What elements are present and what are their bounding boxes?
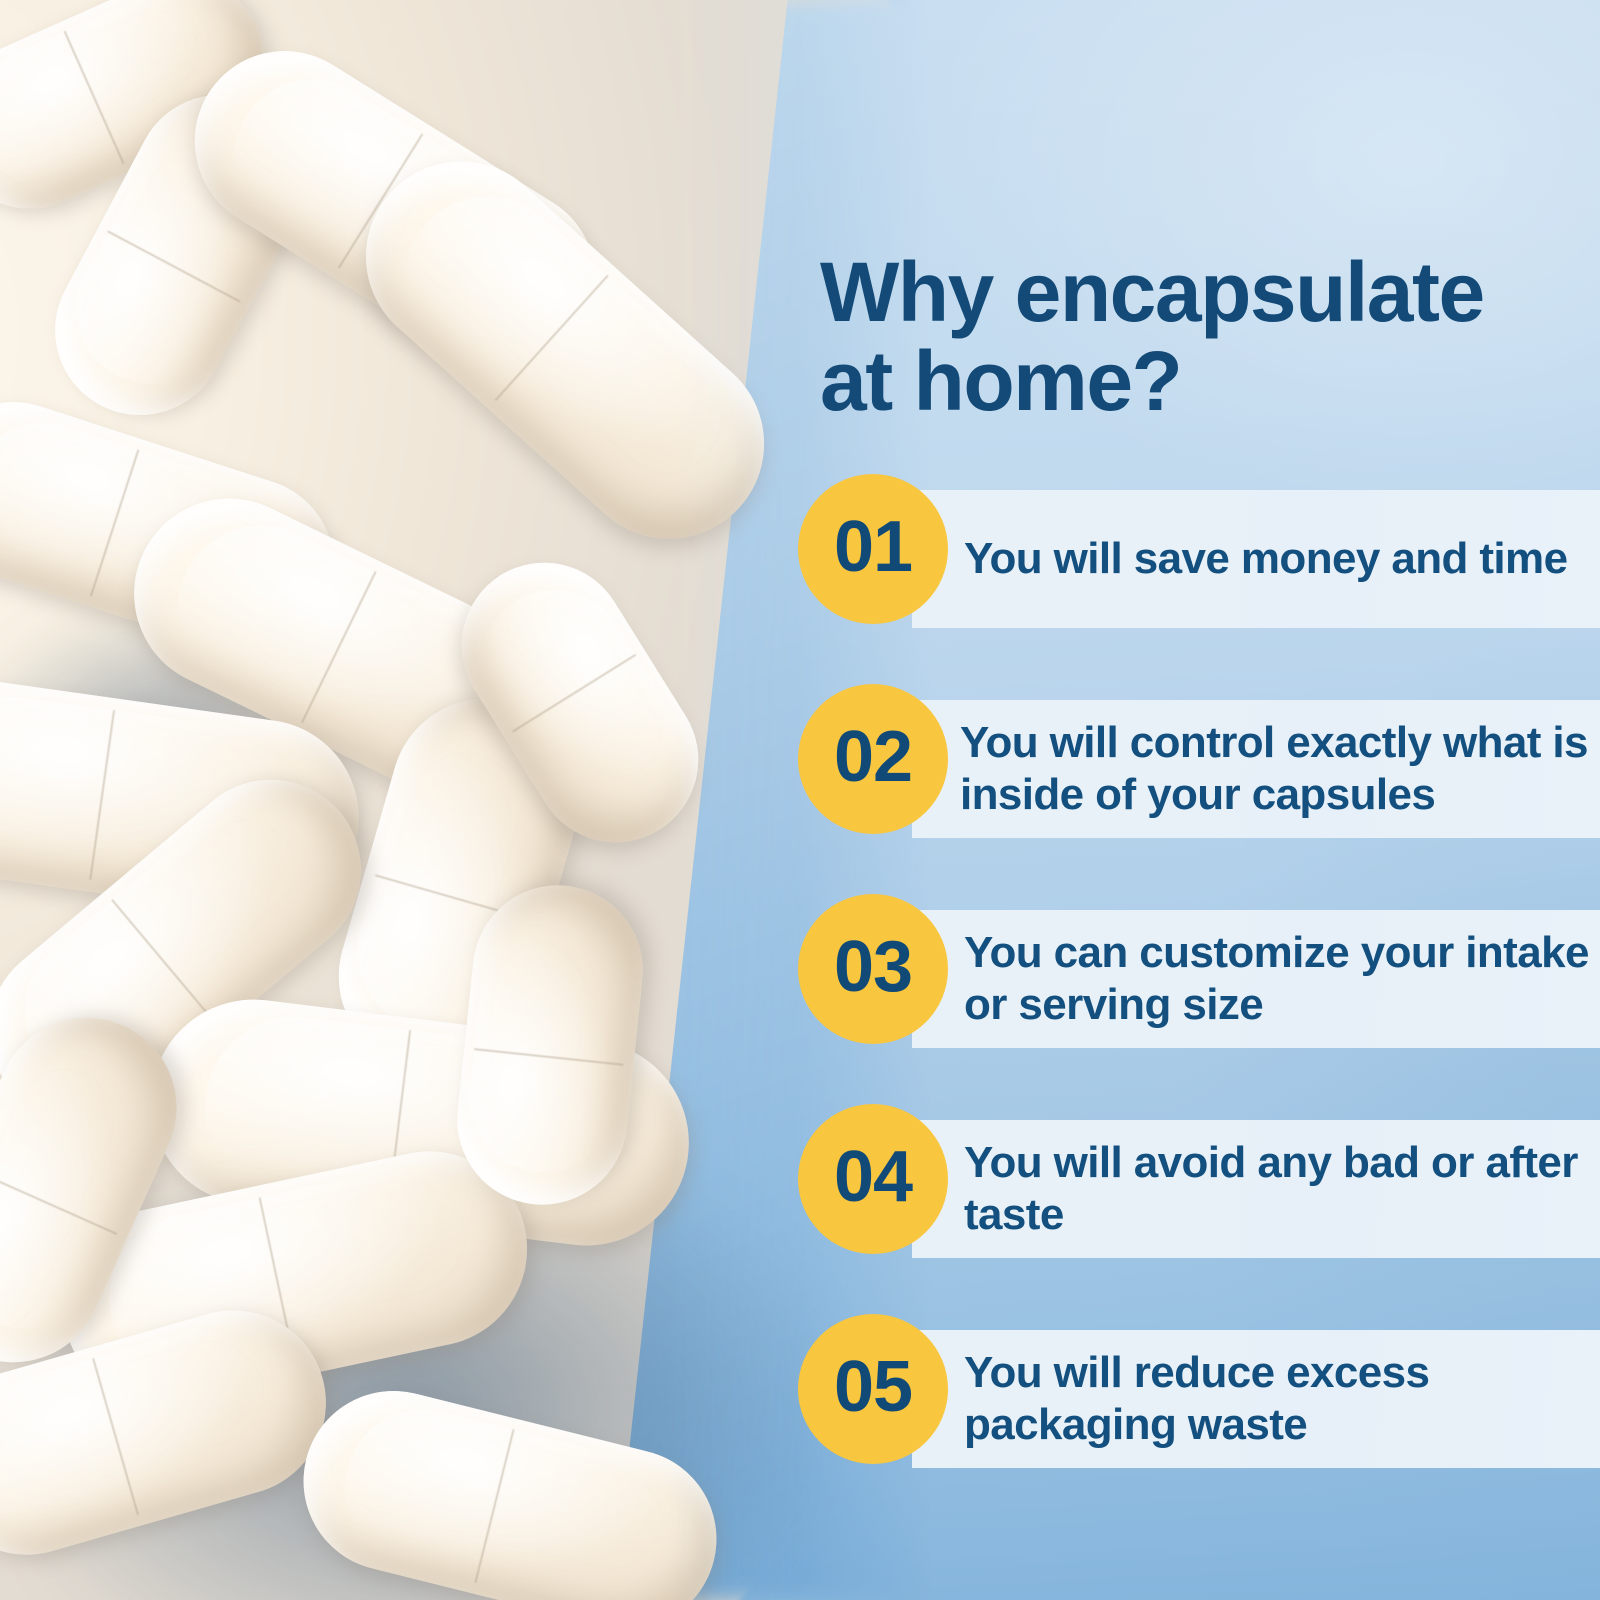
benefits-list: 01 You will save money and time 02 You w… <box>0 0 1600 1600</box>
list-item: 05 You will reduce excess packaging wast… <box>798 1330 1600 1468</box>
list-item: 03 You can customize your intake or serv… <box>798 910 1600 1048</box>
list-item-number-badge: 02 <box>798 684 948 834</box>
list-item-text: You will reduce excess packaging waste <box>964 1347 1594 1451</box>
list-item-number-badge: 01 <box>798 474 948 624</box>
list-item-number-badge: 03 <box>798 894 948 1044</box>
list-item-number: 01 <box>834 511 912 583</box>
list-item-text: You will avoid any bad or after taste <box>964 1137 1594 1241</box>
list-item-number: 02 <box>834 721 912 793</box>
list-item: 04 You will avoid any bad or after taste <box>798 1120 1600 1258</box>
list-item-number-badge: 05 <box>798 1314 948 1464</box>
list-item-number: 05 <box>834 1351 912 1423</box>
list-item-text: You will save money and time <box>964 533 1594 585</box>
list-item-number: 03 <box>834 931 912 1003</box>
list-item-number-badge: 04 <box>798 1104 948 1254</box>
list-item: 01 You will save money and time <box>798 490 1600 628</box>
list-item-text: You will control exactly what is inside … <box>960 717 1600 821</box>
infographic-poster: Why encapsulate at home? 01 You will sav… <box>0 0 1600 1600</box>
list-item-text: You can customize your intake or serving… <box>964 927 1594 1031</box>
list-item: 02 You will control exactly what is insi… <box>798 700 1600 838</box>
list-item-number: 04 <box>834 1141 912 1213</box>
